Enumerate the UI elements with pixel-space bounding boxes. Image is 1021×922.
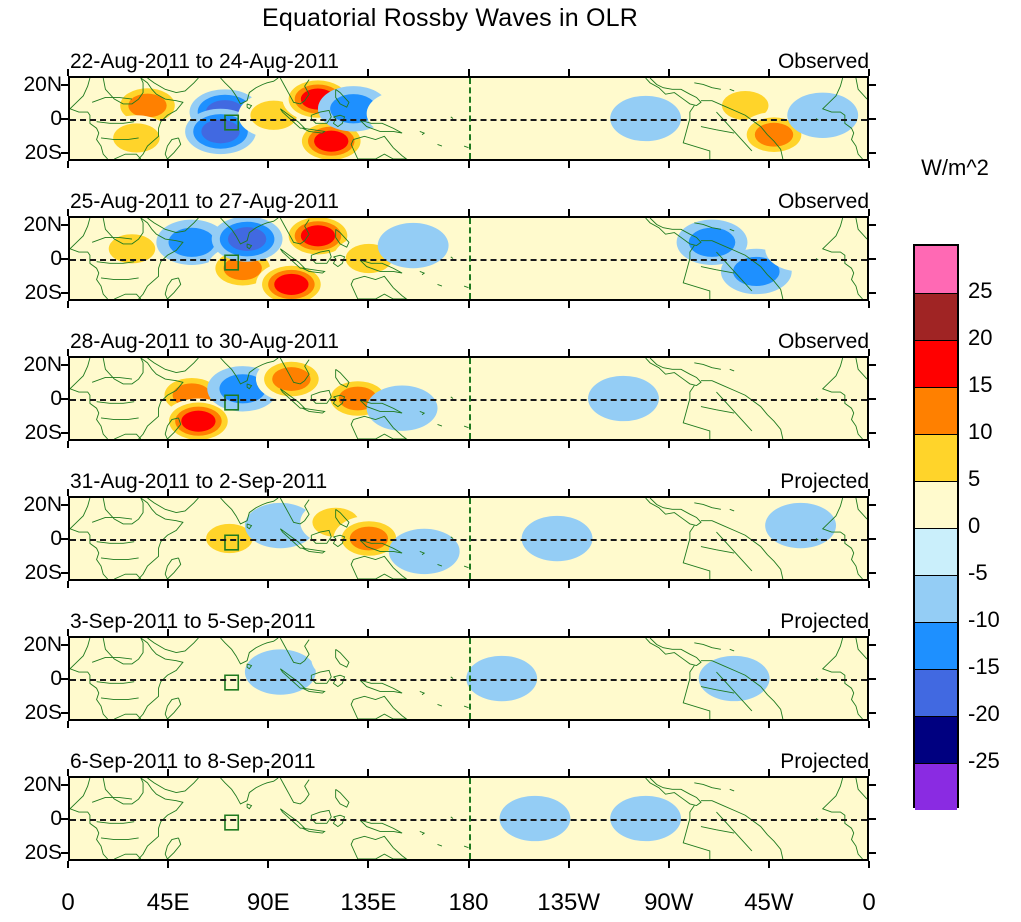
- x-tick: [367, 161, 369, 168]
- x-tick-top: [668, 209, 670, 216]
- x-tick-top: [568, 209, 570, 216]
- x-tick-top: [167, 489, 169, 496]
- x-tick: [267, 581, 269, 588]
- x-axis-label: 135W: [537, 889, 600, 917]
- x-tick-top: [167, 349, 169, 356]
- x-axis-label: 90W: [644, 889, 693, 917]
- x-tick: [568, 161, 570, 168]
- x-axis-label: 135E: [340, 889, 396, 917]
- colorbar-tick-label: 20: [968, 325, 992, 351]
- map-panel: 22-Aug-2011 to 24-Aug-2011Observed: [68, 76, 869, 161]
- x-tick-top: [367, 349, 369, 356]
- colorbar-tick-label: -10: [968, 607, 1000, 633]
- map-plot-area: [68, 776, 869, 861]
- panel-date-range: 25-Aug-2011 to 27-Aug-2011: [70, 190, 339, 214]
- y-axis-label: 20N: [0, 73, 62, 97]
- y-tick-right: [869, 712, 876, 714]
- x-tick: [67, 441, 69, 448]
- y-tick: [61, 644, 68, 646]
- y-tick: [61, 572, 68, 574]
- dateline-180: [469, 638, 471, 719]
- y-tick-right: [869, 258, 876, 260]
- colorbar-band: [915, 716, 957, 763]
- x-tick: [668, 721, 670, 728]
- x-tick: [768, 301, 770, 308]
- x-tick-top: [868, 69, 870, 76]
- y-axis-label: 0: [0, 527, 62, 551]
- x-tick: [67, 861, 69, 868]
- x-tick-top: [267, 489, 269, 496]
- x-tick-top: [668, 629, 670, 636]
- dateline-180: [469, 358, 471, 439]
- y-tick-right: [869, 538, 876, 540]
- colorbar-band: [915, 481, 957, 528]
- contour-band: [444, 368, 515, 413]
- x-tick-top: [768, 769, 770, 776]
- contour-band: [787, 93, 858, 138]
- y-tick: [61, 398, 68, 400]
- colorbar-tick-label: -20: [968, 701, 1000, 727]
- colorbar-band: [915, 622, 957, 669]
- colorbar-band: [915, 293, 957, 340]
- x-tick-top: [267, 209, 269, 216]
- x-tick-top: [167, 209, 169, 216]
- x-tick-top: [267, 769, 269, 776]
- y-tick: [61, 538, 68, 540]
- y-axis-labels: 20N020S: [0, 636, 62, 721]
- x-tick: [167, 301, 169, 308]
- page-title: Equatorial Rossby Waves in OLR: [0, 0, 900, 36]
- panel-date-range: 3-Sep-2011 to 5-Sep-2011: [70, 610, 316, 634]
- x-tick: [167, 161, 169, 168]
- x-tick-top: [868, 349, 870, 356]
- x-tick-top: [468, 629, 470, 636]
- x-tick-top: [668, 769, 670, 776]
- y-tick: [61, 678, 68, 680]
- x-tick: [267, 441, 269, 448]
- x-tick-top: [768, 69, 770, 76]
- y-axis-label: 20N: [0, 353, 62, 377]
- y-axis-labels: 20N020S: [0, 356, 62, 441]
- panel-status-label: Observed: [778, 190, 869, 214]
- panel-status-label: Observed: [778, 330, 869, 354]
- contour-band: [765, 226, 836, 271]
- x-tick-top: [568, 769, 570, 776]
- y-axis-label: 20S: [0, 141, 62, 165]
- panel-date-range: 22-Aug-2011 to 24-Aug-2011: [70, 50, 339, 74]
- x-tick-top: [668, 489, 670, 496]
- x-tick: [267, 721, 269, 728]
- x-tick-top: [468, 209, 470, 216]
- colorbar-tick-label: -5: [968, 560, 988, 586]
- contour-band: [378, 223, 449, 268]
- colorbar-band: [915, 763, 957, 810]
- x-tick: [468, 721, 470, 728]
- x-tick-top: [468, 349, 470, 356]
- y-tick: [61, 432, 68, 434]
- panel-date-range: 6-Sep-2011 to 8-Sep-2011: [70, 750, 316, 774]
- x-tick: [67, 581, 69, 588]
- map-panel: 31-Aug-2011 to 2-Sep-2011Projected: [68, 496, 869, 581]
- x-tick-top: [868, 209, 870, 216]
- y-tick: [61, 818, 68, 820]
- x-tick: [367, 861, 369, 868]
- colorbar-band: [915, 387, 957, 434]
- colorbar-band: [915, 434, 957, 481]
- x-tick: [668, 301, 670, 308]
- contour-band: [245, 649, 316, 694]
- y-axis-label: 0: [0, 807, 62, 831]
- x-tick-top: [468, 489, 470, 496]
- colorbar-tick-label: -25: [968, 748, 1000, 774]
- x-tick: [167, 441, 169, 448]
- map-plot-area: [68, 636, 869, 721]
- x-tick-top: [367, 769, 369, 776]
- x-tick-top: [367, 629, 369, 636]
- y-tick-right: [869, 818, 876, 820]
- x-tick-top: [568, 629, 570, 636]
- x-tick: [367, 721, 369, 728]
- y-tick-right: [869, 784, 876, 786]
- contour-band: [274, 274, 308, 295]
- y-tick: [61, 292, 68, 294]
- colorbar-units: W/m^2: [889, 155, 1021, 181]
- x-tick-top: [167, 629, 169, 636]
- y-tick: [61, 118, 68, 120]
- x-tick: [568, 861, 570, 868]
- x-tick: [468, 301, 470, 308]
- y-axis-labels: 20N020S: [0, 776, 62, 861]
- y-tick: [61, 712, 68, 714]
- contour-band: [314, 131, 348, 152]
- panel-date-range: 31-Aug-2011 to 2-Sep-2011: [70, 470, 327, 494]
- x-tick-top: [868, 489, 870, 496]
- x-tick: [67, 721, 69, 728]
- x-tick-top: [67, 769, 69, 776]
- x-tick: [768, 721, 770, 728]
- panel-date-range: 28-Aug-2011 to 30-Aug-2011: [70, 330, 339, 354]
- x-tick-top: [868, 769, 870, 776]
- contour-band: [156, 799, 227, 844]
- x-tick-top: [167, 769, 169, 776]
- x-tick-top: [67, 489, 69, 496]
- x-tick-top: [67, 629, 69, 636]
- map-plot-area: [68, 496, 869, 581]
- x-tick: [868, 721, 870, 728]
- y-axis-label: 20N: [0, 493, 62, 517]
- map-panel: 3-Sep-2011 to 5-Sep-2011Projected: [68, 636, 869, 721]
- colorbar-band: [915, 528, 957, 575]
- y-tick: [61, 364, 68, 366]
- x-tick: [267, 861, 269, 868]
- colorbar-band: [915, 246, 957, 293]
- x-tick: [668, 441, 670, 448]
- x-tick-top: [768, 349, 770, 356]
- x-tick-top: [267, 629, 269, 636]
- x-tick-top: [67, 69, 69, 76]
- x-tick: [868, 441, 870, 448]
- x-tick: [768, 581, 770, 588]
- x-tick-top: [167, 69, 169, 76]
- map-panel: 6-Sep-2011 to 8-Sep-2011Projected: [68, 776, 869, 861]
- colorbar-band: [915, 575, 957, 622]
- y-axis-labels: 20N020S: [0, 216, 62, 301]
- x-axis-label: 0: [862, 889, 875, 917]
- y-tick: [61, 152, 68, 154]
- x-tick: [267, 301, 269, 308]
- map-panel: 25-Aug-2011 to 27-Aug-2011Observed: [68, 216, 869, 301]
- x-tick: [868, 861, 870, 868]
- x-tick-top: [367, 69, 369, 76]
- x-tick-top: [868, 629, 870, 636]
- colorbar-tick-label: 0: [968, 513, 980, 539]
- x-tick-top: [367, 489, 369, 496]
- y-tick-right: [869, 852, 876, 854]
- dateline-180: [469, 218, 471, 299]
- y-tick-right: [869, 504, 876, 506]
- y-tick: [61, 852, 68, 854]
- map-plot-area: [68, 76, 869, 161]
- x-tick: [67, 301, 69, 308]
- x-tick: [668, 581, 670, 588]
- y-axis-label: 0: [0, 107, 62, 131]
- y-axis-label: 20N: [0, 773, 62, 797]
- x-tick: [568, 301, 570, 308]
- y-tick-right: [869, 432, 876, 434]
- contour-band: [765, 503, 836, 548]
- y-axis-labels: 20N020S: [0, 76, 62, 161]
- x-axis-label: 45W: [744, 889, 793, 917]
- y-tick: [61, 504, 68, 506]
- x-tick-top: [267, 69, 269, 76]
- colorbar-tick-label: 10: [968, 419, 992, 445]
- y-tick: [61, 224, 68, 226]
- y-axis-label: 0: [0, 387, 62, 411]
- colorbar-band: [915, 340, 957, 387]
- x-tick-top: [468, 769, 470, 776]
- y-axis-label: 20S: [0, 281, 62, 305]
- map-plot-area: [68, 356, 869, 441]
- x-tick-top: [568, 349, 570, 356]
- x-tick: [468, 581, 470, 588]
- y-tick: [61, 258, 68, 260]
- x-tick-top: [267, 349, 269, 356]
- contour-band: [689, 228, 735, 257]
- x-tick: [668, 161, 670, 168]
- x-tick: [568, 721, 570, 728]
- x-tick: [167, 581, 169, 588]
- x-tick: [468, 861, 470, 868]
- x-tick: [568, 581, 570, 588]
- x-axis-label: 0: [61, 889, 74, 917]
- y-tick-right: [869, 364, 876, 366]
- y-axis-label: 20N: [0, 633, 62, 657]
- x-tick-top: [568, 489, 570, 496]
- y-axis-label: 20S: [0, 561, 62, 585]
- y-axis-label: 0: [0, 667, 62, 691]
- colorbar-tick-label: -15: [968, 654, 1000, 680]
- x-axis-label: 45E: [147, 889, 190, 917]
- map-panel: 28-Aug-2011 to 30-Aug-2011Observed: [68, 356, 869, 441]
- panel-status-label: Projected: [780, 470, 869, 494]
- dateline-180: [469, 78, 471, 159]
- x-tick: [868, 301, 870, 308]
- y-tick-right: [869, 678, 876, 680]
- y-axis-label: 20N: [0, 213, 62, 237]
- dateline-180: [469, 498, 471, 579]
- x-tick: [568, 441, 570, 448]
- x-tick: [868, 581, 870, 588]
- contour-band: [367, 386, 438, 431]
- x-tick-top: [768, 209, 770, 216]
- contour-band: [90, 382, 161, 427]
- panel-status-label: Observed: [778, 50, 869, 74]
- y-tick: [61, 784, 68, 786]
- y-tick-right: [869, 152, 876, 154]
- y-tick-right: [869, 224, 876, 226]
- x-tick-top: [67, 349, 69, 356]
- x-tick-top: [668, 69, 670, 76]
- y-tick-right: [869, 572, 876, 574]
- y-tick-right: [869, 292, 876, 294]
- x-tick-top: [768, 629, 770, 636]
- x-tick-top: [67, 209, 69, 216]
- x-tick: [167, 861, 169, 868]
- x-tick-top: [468, 69, 470, 76]
- colorbar-tick-label: 25: [968, 278, 992, 304]
- x-axis-label: 90E: [247, 889, 290, 917]
- x-tick-top: [768, 489, 770, 496]
- x-tick: [868, 161, 870, 168]
- contour-band: [201, 120, 239, 144]
- y-tick-right: [869, 398, 876, 400]
- x-tick: [668, 861, 670, 868]
- x-tick: [167, 721, 169, 728]
- y-axis-labels: 20N020S: [0, 496, 62, 581]
- x-tick: [67, 161, 69, 168]
- x-tick: [367, 301, 369, 308]
- colorbar: [913, 244, 959, 808]
- x-tick-top: [367, 209, 369, 216]
- x-tick-top: [668, 349, 670, 356]
- colorbar-tick-label: 15: [968, 372, 992, 398]
- y-axis-label: 20S: [0, 701, 62, 725]
- y-axis-label: 20S: [0, 841, 62, 865]
- x-tick: [768, 161, 770, 168]
- panel-status-label: Projected: [780, 750, 869, 774]
- y-tick-right: [869, 84, 876, 86]
- x-tick: [367, 581, 369, 588]
- contour-band: [181, 411, 215, 432]
- x-tick: [267, 161, 269, 168]
- x-tick: [468, 161, 470, 168]
- x-tick: [768, 861, 770, 868]
- panel-status-label: Projected: [780, 610, 869, 634]
- map-plot-area: [68, 216, 869, 301]
- y-axis-label: 20S: [0, 421, 62, 445]
- y-tick-right: [869, 118, 876, 120]
- x-tick: [768, 441, 770, 448]
- y-tick-right: [869, 644, 876, 646]
- y-axis-label: 0: [0, 247, 62, 271]
- colorbar-tick-label: 5: [968, 466, 980, 492]
- contour-band: [743, 373, 814, 418]
- x-tick: [468, 441, 470, 448]
- x-tick: [367, 441, 369, 448]
- x-tick-top: [568, 69, 570, 76]
- dateline-180: [469, 778, 471, 859]
- x-axis-label: 180: [448, 889, 488, 917]
- colorbar-band: [915, 669, 957, 716]
- y-tick: [61, 84, 68, 86]
